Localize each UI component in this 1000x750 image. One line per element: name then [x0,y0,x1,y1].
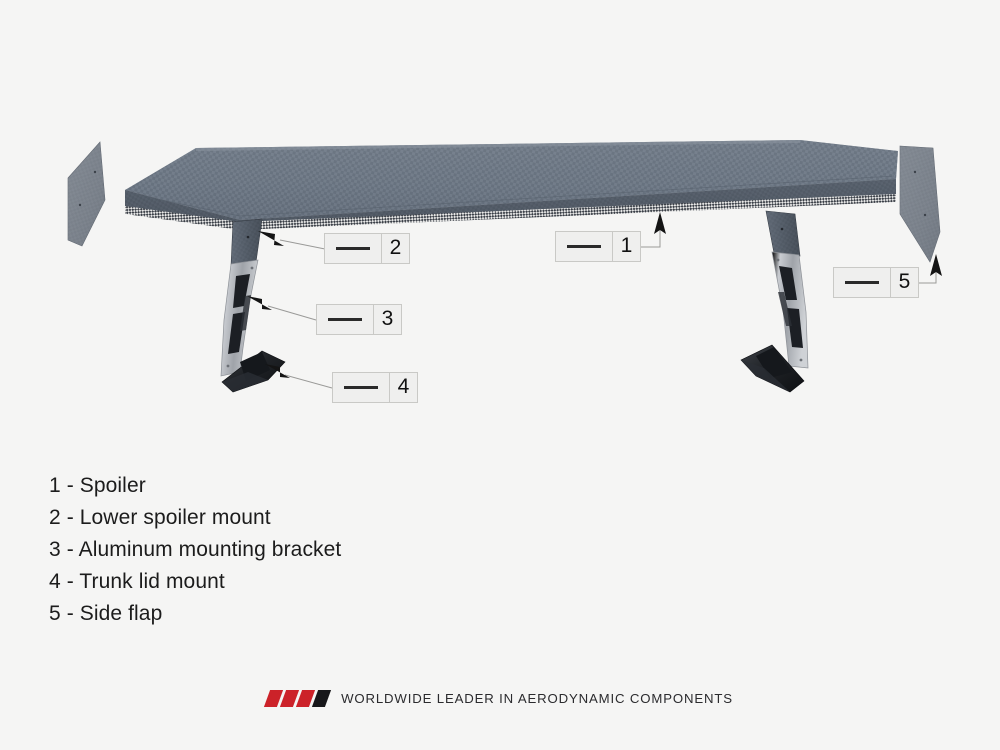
leader-line-2 [280,240,325,249]
callout-box-5[interactable]: 5 [833,267,919,298]
callout-number-2: 2 [382,234,409,263]
callout-number-1: 1 [613,232,640,261]
callout-box-1[interactable]: 1 [555,231,641,262]
legend-item-3: 3 - Aluminum mounting bracket [49,534,341,566]
product-diagram-canvas: 1 2 3 4 5 1 - Spoiler 2 - Lower spoiler … [0,0,1000,750]
callout-dash-icon-2 [336,247,370,250]
lower-spoiler-mount-left [231,219,262,266]
callout-dash-icon-3 [328,318,362,321]
legend-item-5: 5 - Side flap [49,598,341,630]
callout-number-5: 5 [891,268,918,297]
lower-spoiler-mount-right [766,211,800,256]
brand-stripes-logo-icon [267,690,328,707]
callout-number-3: 3 [374,305,401,334]
callout-dash-icon-5 [845,281,879,284]
callout-dash-cell-3 [317,305,373,334]
callout-dash-icon-1 [567,245,601,248]
legend-item-1: 1 - Spoiler [49,470,341,502]
callout-dash-cell-5 [834,268,890,297]
arrowhead-2 [258,231,284,246]
legend-item-2: 2 - Lower spoiler mount [49,502,341,534]
callout-dash-cell-1 [556,232,612,261]
side-flap-left [68,142,105,246]
footer-tagline: WORLDWIDE LEADER IN AERODYNAMIC COMPONEN… [341,691,733,706]
side-flap-right [900,146,940,262]
logo-stripe-black-1 [312,690,331,707]
callout-box-2[interactable]: 2 [324,233,410,264]
callout-box-4[interactable]: 4 [332,372,418,403]
spoiler-exploded-render [0,0,1000,750]
arrowhead-3 [247,296,272,310]
legend-item-4: 4 - Trunk lid mount [49,566,341,598]
leader-line-3 [268,306,316,320]
aluminum-mounting-bracket-right [772,252,808,368]
callout-dash-cell-4 [333,373,389,402]
footer-bar: WORLDWIDE LEADER IN AERODYNAMIC COMPONEN… [0,690,1000,707]
callout-dash-icon-4 [344,386,378,389]
leader-line-4 [285,375,332,388]
callout-dash-cell-2 [325,234,381,263]
callout-box-3[interactable]: 3 [316,304,402,335]
mount-assembly-right [741,211,808,392]
callout-number-4: 4 [390,373,417,402]
parts-legend: 1 - Spoiler 2 - Lower spoiler mount 3 - … [49,470,341,630]
